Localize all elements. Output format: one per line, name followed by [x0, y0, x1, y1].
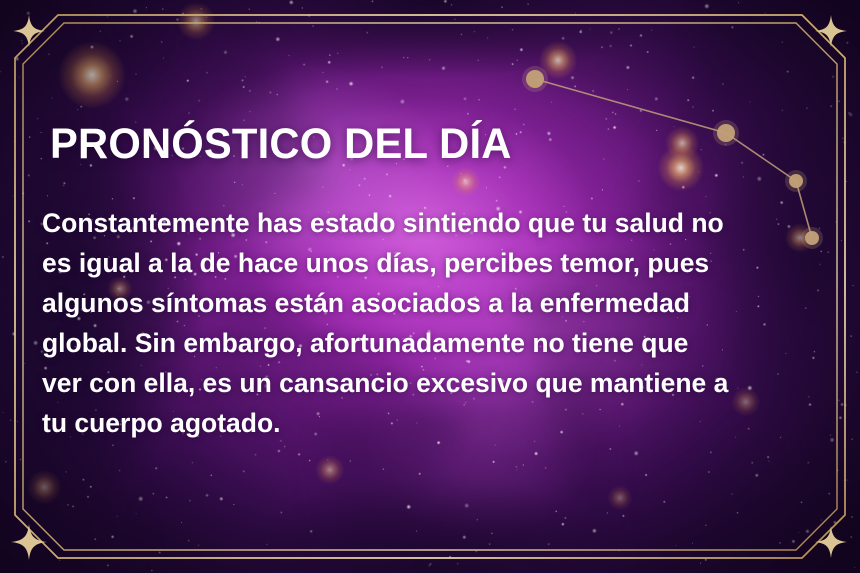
horoscope-card: PRONÓSTICO DEL DÍA Constantemente has es…: [0, 0, 860, 573]
forecast-body-line: algunos síntomas están asociados a la en…: [42, 283, 826, 323]
card-content: PRONÓSTICO DEL DÍA Constantemente has es…: [0, 0, 860, 573]
forecast-body-line: Constantemente has estado sintiendo que …: [42, 203, 826, 243]
forecast-body-text: Constantemente has estado sintiendo que …: [42, 203, 826, 443]
forecast-body-line: es igual a la de hace unos días, percibe…: [42, 243, 826, 283]
page-title: PRONÓSTICO DEL DÍA: [50, 120, 512, 169]
forecast-body-line: global. Sin embargo, afortunadamente no …: [42, 323, 826, 363]
forecast-body-line: ver con ella, es un cansancio excesivo q…: [42, 363, 826, 403]
forecast-body-line: tu cuerpo agotado.: [42, 403, 826, 443]
